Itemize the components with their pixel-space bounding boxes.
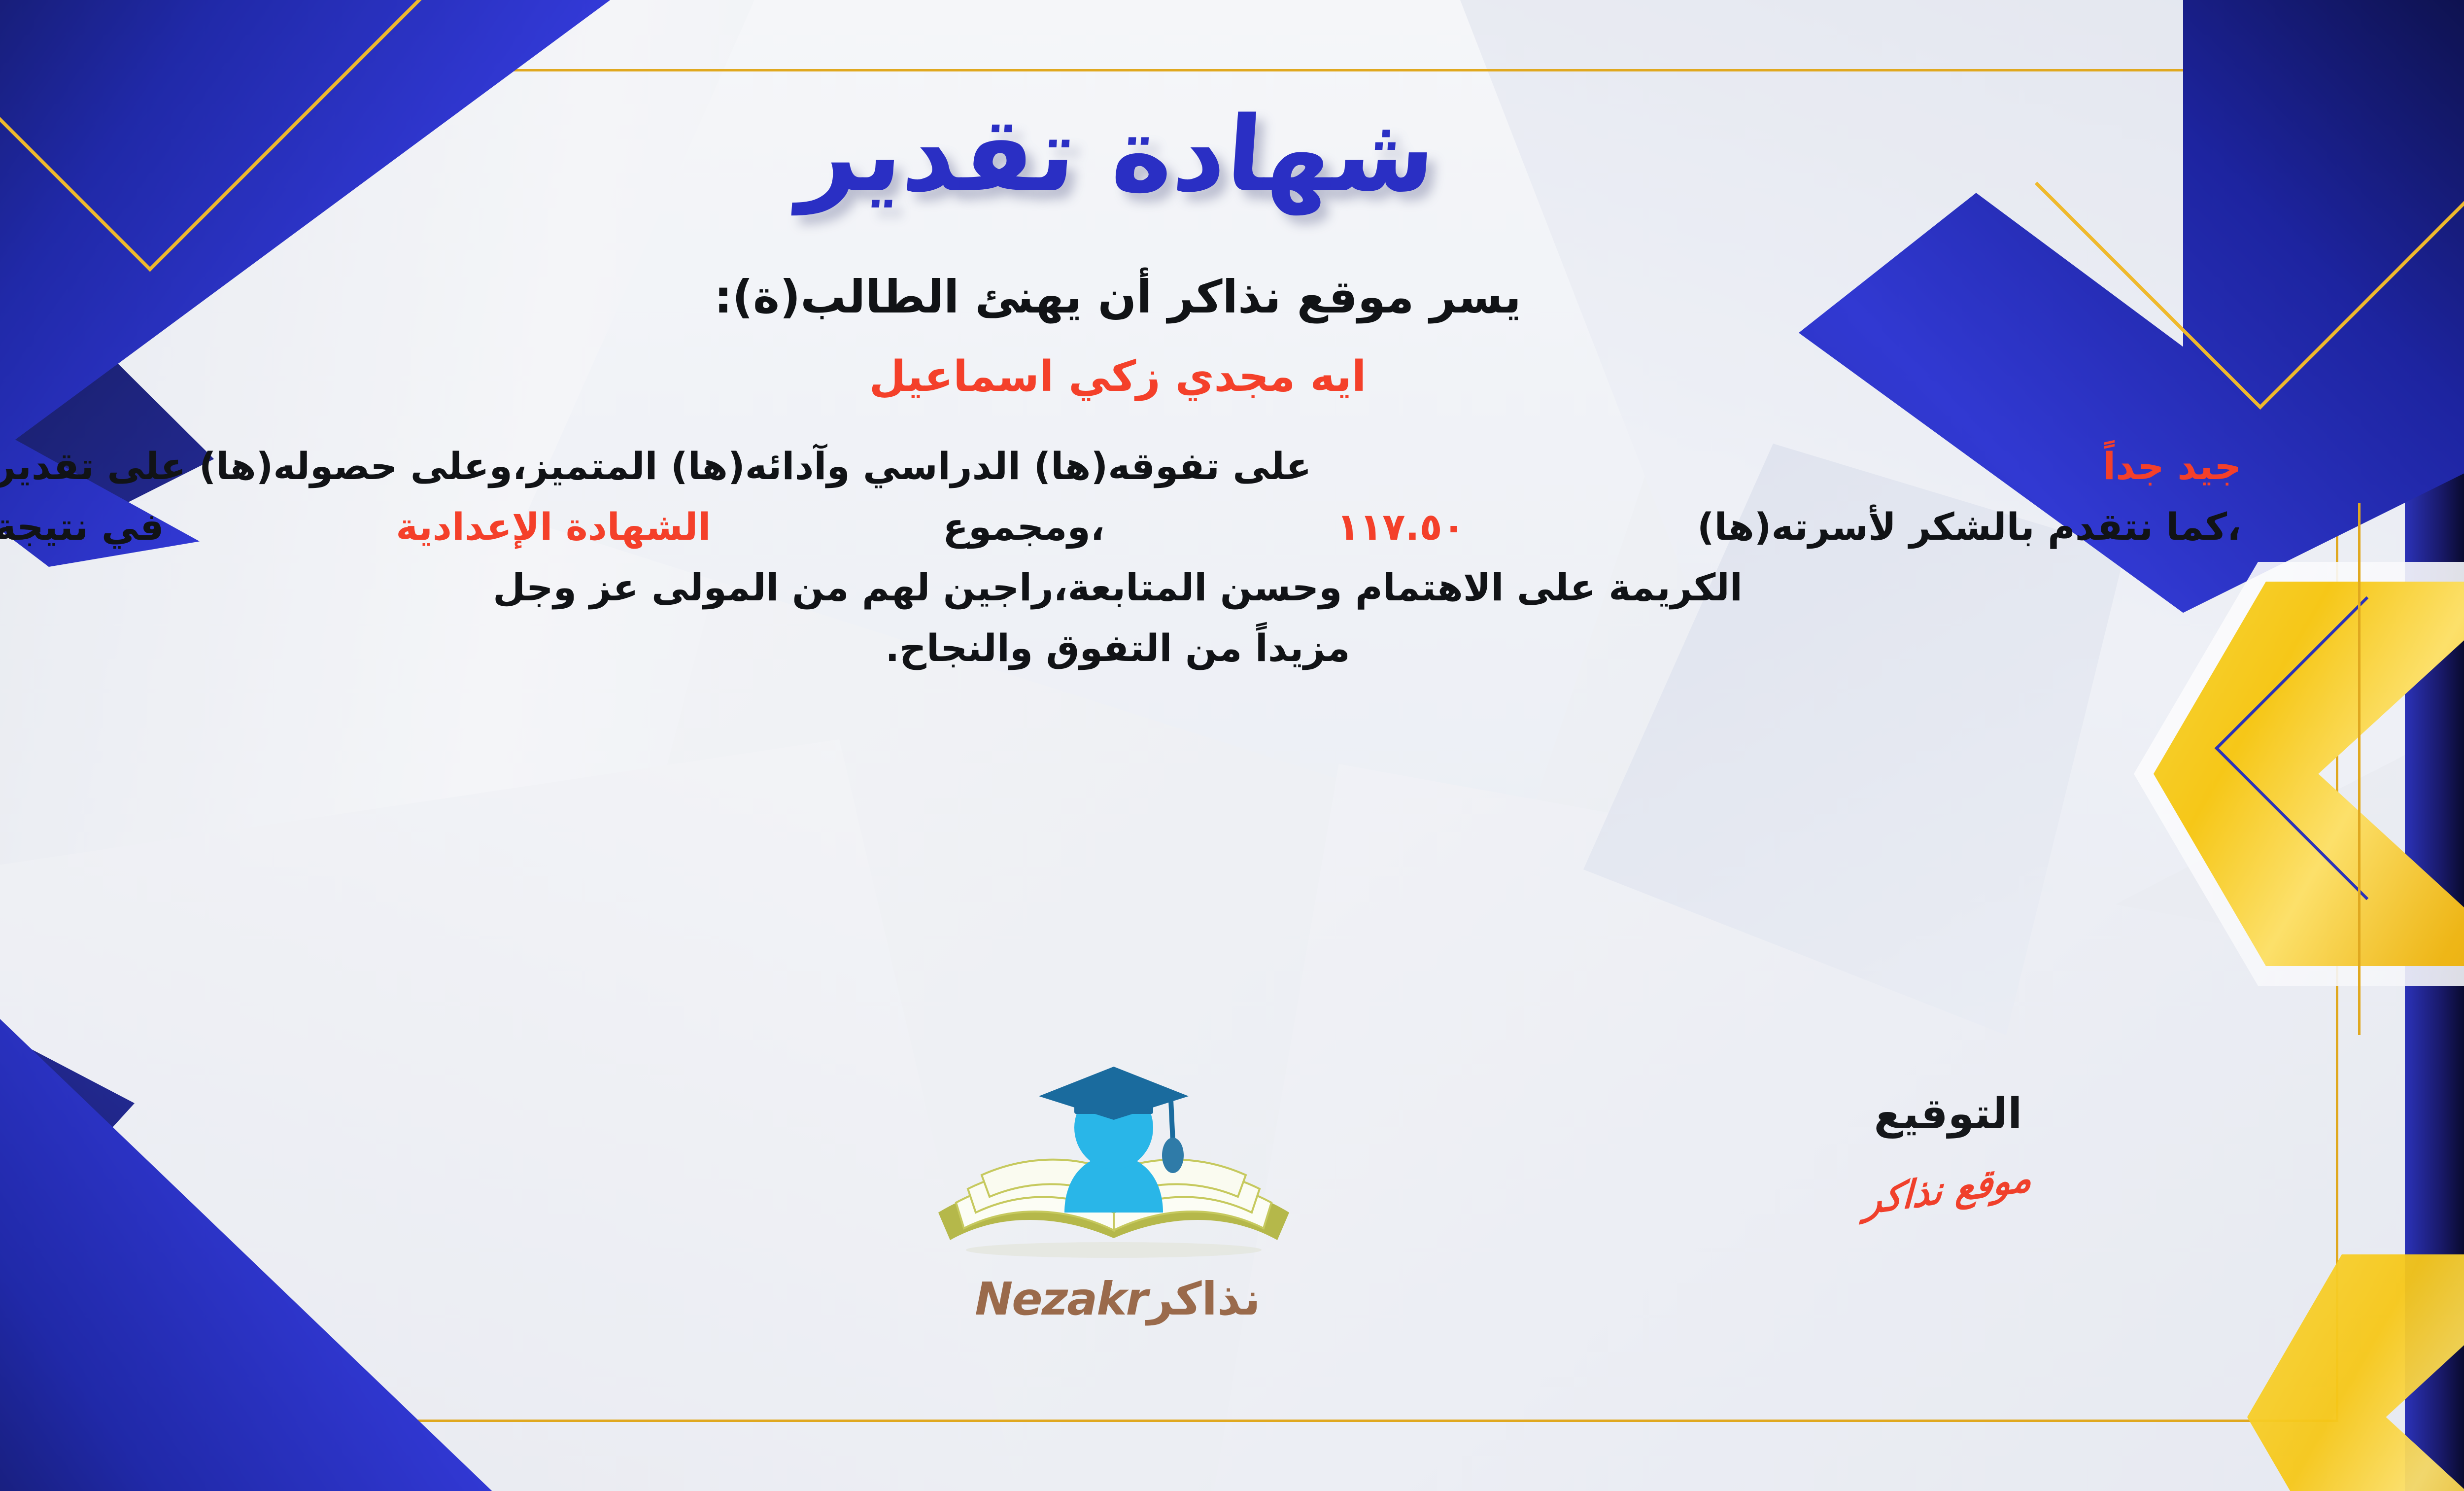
citation-line-4: مزيداً من التفوق والنجاح.	[0, 618, 2241, 678]
total-score-value: ١١٧.٥٠	[1336, 496, 1465, 557]
citation-line-1-text: على تفوقه(ها) الدراسي وآدائه(ها) المتميز…	[0, 436, 1311, 496]
brand-wordmark-latin: Nezakr	[975, 1273, 1147, 1325]
certificate-page: شهادة تقدير يسر موقع نذاكر أن يهنئ الطال…	[0, 0, 2464, 1491]
grade-value: جيد جداً	[2103, 436, 2241, 496]
gold-vertical-rule	[2358, 503, 2361, 1035]
certificate-footer: التوقيع موقع نذاكر	[0, 1060, 2313, 1400]
page-title: شهادة تقدير	[796, 98, 1439, 211]
greeting-text: يسر موقع نذاكر أن يهنئ الطالب(ة):	[714, 271, 1521, 323]
citation-line-1: جيد جداً على تفوقه(ها) الدراسي وآدائه(ها…	[0, 436, 2241, 496]
citation-line-2: ،كما نتقدم بالشكر لأسرته(ها) ١١٧.٥٠ ،ومج…	[0, 496, 2241, 557]
signature-block: التوقيع موقع نذاكر	[1790, 1089, 2106, 1211]
certificate-content: شهادة تقدير يسر موقع نذاكر أن يهنئ الطال…	[0, 74, 2313, 1420]
citation-total-label: ،ومجموع	[943, 496, 1104, 557]
citation-thanks-text: ،كما نتقدم بالشكر لأسرته(ها)	[1697, 496, 2241, 557]
brand-logo: Nezakrنذاكر	[930, 1065, 1305, 1325]
signature-label: التوقيع	[1790, 1089, 2106, 1139]
signature-script: موقع نذاكر	[1863, 1155, 2032, 1223]
brand-wordmark-arabic: نذاكر	[1147, 1273, 1261, 1325]
citation-result-label: في نتيجة	[0, 496, 164, 557]
citation-body: جيد جداً على تفوقه(ها) الدراسي وآدائه(ها…	[0, 436, 2241, 678]
brand-wordmark: Nezakrنذاكر	[930, 1273, 1305, 1325]
exam-name-value: الشهادة الإعدادية	[396, 496, 711, 557]
citation-line-3: الكريمة على الاهتمام وحسن المتابعة،راجين…	[0, 557, 2241, 618]
student-name: ايه مجدي زكي اسماعيل	[869, 352, 1367, 401]
graduate-book-logo-icon	[930, 1065, 1305, 1277]
